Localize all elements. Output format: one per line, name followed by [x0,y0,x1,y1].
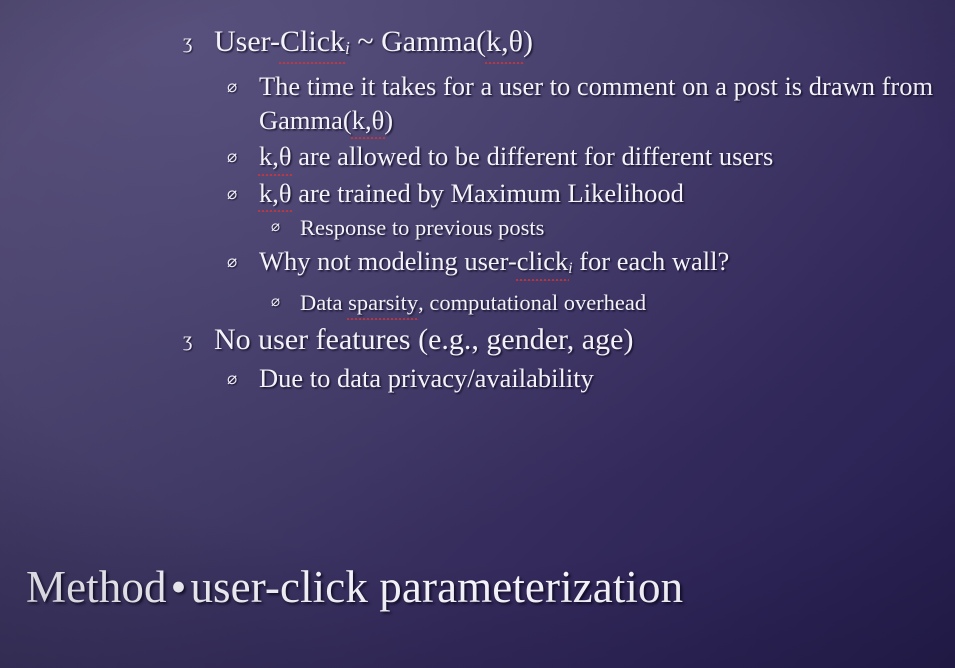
bullet-item-time-takes-comment: ⌀The time it takes for a user to comment… [0,70,955,137]
spellcheck-underlined-text: k,θ [352,104,385,138]
text-run: ) [523,25,533,58]
text-run: are trained by Maximum Likelihood [292,178,684,208]
text-run: Why not modeling user- [259,246,517,276]
bullet-item-data-sparsity-overhead: ⌀Data sparsity, computational overhead [0,288,955,318]
text-run: ~ Gamma( [350,25,486,58]
spellcheck-underlined-text: sparsity [348,288,418,318]
bullet-glyph-level2-icon: ⌀ [227,70,259,95]
bullet-glyph-level1-icon: ʒ [183,320,214,350]
text-run: are allowed to be different for differen… [292,141,774,171]
bullet-text: k,θ are allowed to be different for diff… [259,140,955,174]
presentation-slide: ʒUser-Clicki ~ Gamma(k,θ)⌀The time it ta… [0,0,955,668]
bullet-item-due-to-data-privacy: ⌀Due to data privacy/availability [0,362,955,396]
slide-title: Method•user-click parameterization [26,556,683,618]
text-run: ) [384,105,393,135]
slide-body-content: ʒUser-Clicki ~ Gamma(k,θ)⌀The time it ta… [0,22,955,399]
bullet-text: Due to data privacy/availability [259,362,955,396]
bullet-item-why-not-modeling-each-wall: ⌀Why not modeling user-clicki for each w… [0,245,955,285]
spellcheck-underlined-text: k,θ [259,140,292,174]
text-run: , computational overhead [418,290,646,315]
slide-title-suffix: user-click parameterization [190,562,683,612]
text-run: for each wall? [573,246,730,276]
bullet-item-no-user-features: ʒNo user features (e.g., gender, age) [0,320,955,360]
bullet-text: User-Clicki ~ Gamma(k,θ) [214,22,955,68]
spellcheck-underlined-text: click [517,245,569,279]
text-run: User- [214,25,280,58]
slide-title-prefix: Method [26,562,167,612]
slide-title-separator: • [167,556,191,618]
spellcheck-underlined-text: k,θ [486,22,523,62]
bullet-text: Response to previous posts [300,213,955,243]
text-run: Response to previous posts [300,215,544,240]
bullet-item-k-theta-different-users: ⌀k,θ are allowed to be different for dif… [0,140,955,174]
bullet-glyph-level2-icon: ⌀ [227,362,259,387]
spellcheck-underlined-text: Click [280,22,345,62]
bullet-text: No user features (e.g., gender, age) [214,320,955,360]
bullet-item-response-previous-posts: ⌀Response to previous posts [0,213,955,243]
text-run: Due to data privacy/availability [259,363,594,393]
bullet-glyph-level2-icon: ⌀ [227,245,259,270]
bullet-glyph-level2-icon: ⌀ [227,177,259,202]
bullet-text: Data sparsity, computational overhead [300,288,955,318]
bullet-text: The time it takes for a user to comment … [259,70,955,137]
bullet-item-user-click-gamma: ʒUser-Clicki ~ Gamma(k,θ) [0,22,955,68]
bullet-item-k-theta-maximum-likelihood: ⌀k,θ are trained by Maximum Likelihood [0,177,955,211]
bullet-glyph-level2-icon: ⌀ [227,140,259,165]
text-run: Data [300,290,348,315]
bullet-glyph-level3-icon: ⌀ [271,288,300,310]
bullet-glyph-level1-icon: ʒ [183,22,214,52]
bullet-text: k,θ are trained by Maximum Likelihood [259,177,955,211]
bullet-glyph-level3-icon: ⌀ [271,213,300,235]
text-run: No user features (e.g., gender, age) [214,323,633,356]
bullet-text: Why not modeling user-clicki for each wa… [259,245,955,285]
spellcheck-underlined-text: k,θ [259,177,292,211]
